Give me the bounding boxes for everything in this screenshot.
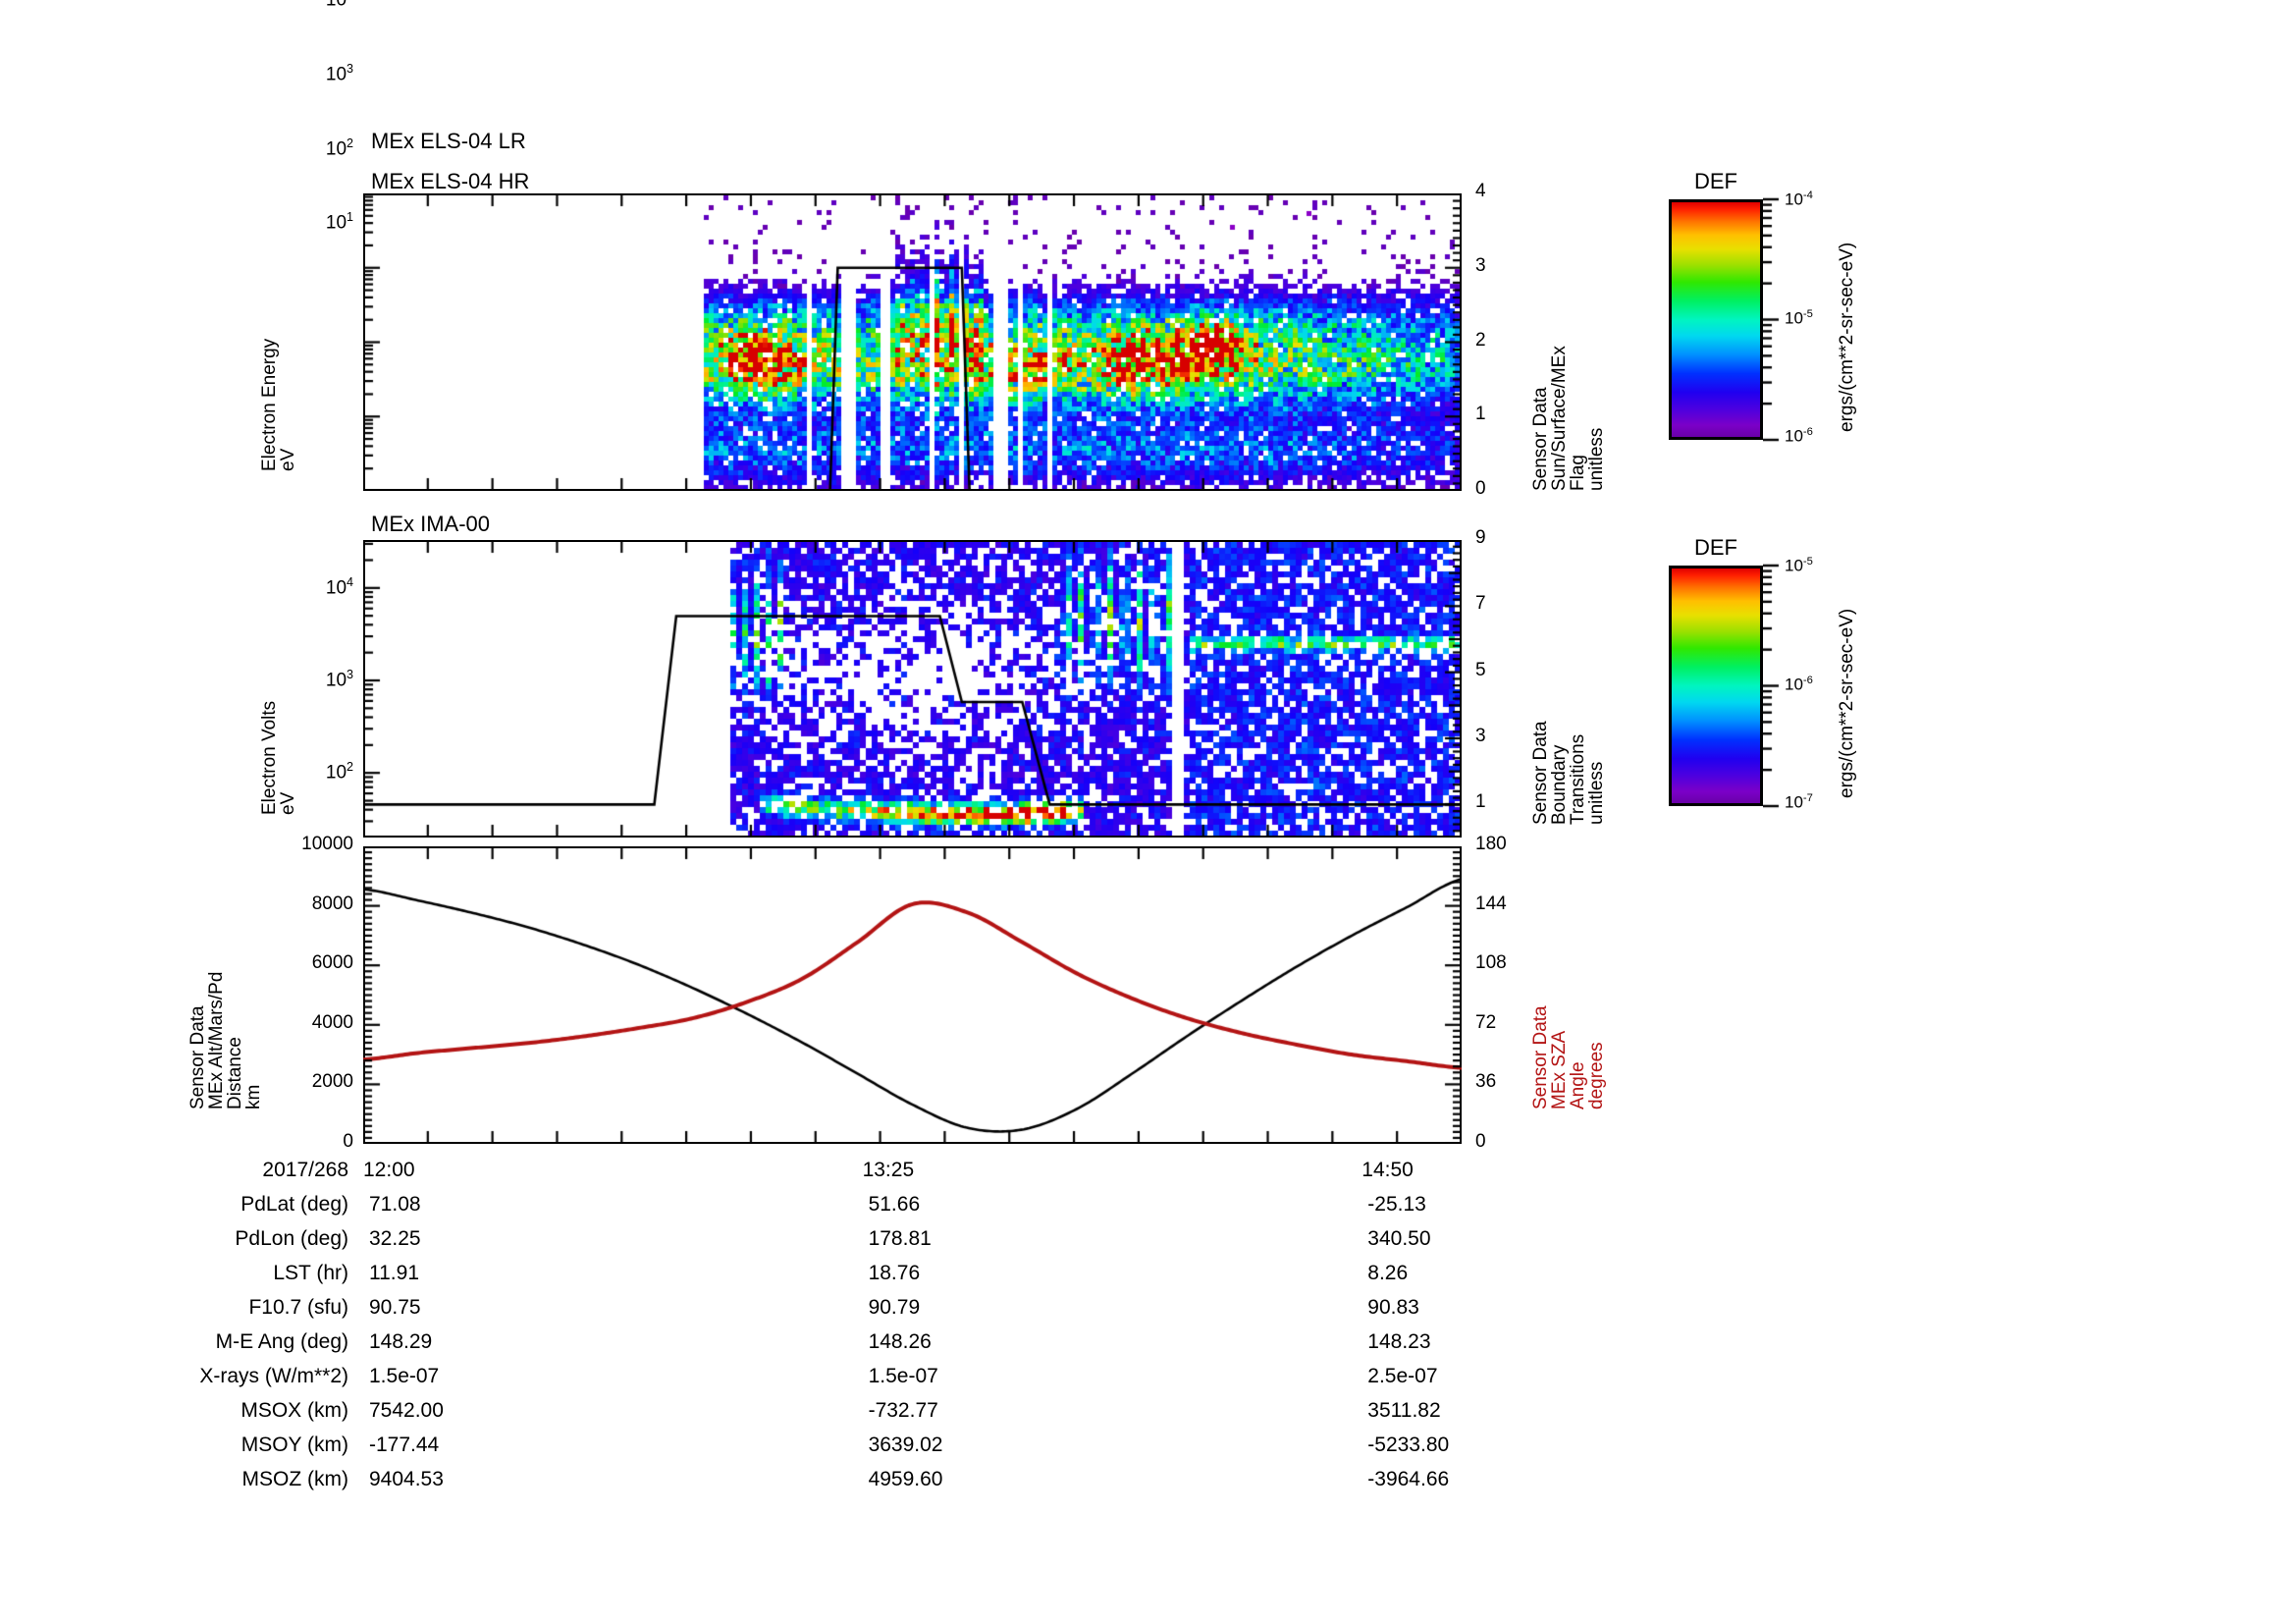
table-cell-8-2: -5233.80 [1367, 1434, 1449, 1457]
p1right-line-0: Sensor Data [1531, 206, 1550, 491]
panel3-y2tick-0: 0 [1475, 1131, 1486, 1153]
panel2-y2tick-1: 3 [1475, 726, 1486, 747]
cb1unit-line-0: ergs/(cm**2-sr-sec-eV) [1838, 592, 1856, 798]
p2right-line-3: unitless [1587, 560, 1606, 825]
table-cell-3-0: 11.91 [369, 1262, 419, 1285]
panel1-ytick-2: 102 [326, 136, 353, 160]
panel1-right-axis-title: Sensor DataSun/Surface/MExFlagunitless [1531, 206, 1606, 491]
p3left-line-3: km [244, 884, 263, 1109]
colorbar-1 [1669, 199, 1763, 440]
table-row-label-4: F10.7 (sfu) [248, 1296, 348, 1320]
table-cell-3-1: 18.76 [869, 1262, 921, 1285]
time-label-0: 12:00 [363, 1159, 415, 1182]
table-cell-6-1: 1.5e-07 [869, 1365, 938, 1388]
panel2-right-axis-title: Sensor DataBoundaryTransitionsunitless [1531, 560, 1606, 825]
table-cell-8-1: 3639.02 [869, 1434, 943, 1457]
table-row-label-9: MSOZ (km) [242, 1468, 348, 1491]
time-label-1: 13:25 [863, 1159, 915, 1182]
p3right-line-0: Sensor Data [1531, 884, 1550, 1109]
panel2-ytick-2: 102 [326, 760, 353, 784]
panel3-right-axis-title: Sensor DataMEx SZAAngledegrees [1531, 884, 1606, 1109]
panel1-y2tick-2: 2 [1475, 330, 1486, 352]
p2right-line-0: Sensor Data [1531, 560, 1550, 825]
panel3-ytick-1: 2000 [312, 1071, 353, 1093]
table-row-label-2: PdLon (deg) [235, 1227, 348, 1251]
panel3-y2tick-4: 144 [1475, 893, 1507, 915]
table-row-label-5: M-E Ang (deg) [216, 1330, 348, 1354]
p2left-line-1: eV [279, 579, 297, 815]
table-cell-2-0: 32.25 [369, 1227, 421, 1251]
table-cell-8-0: -177.44 [369, 1434, 439, 1457]
panel3-ytick-0: 0 [343, 1131, 353, 1153]
panel2-title-line-1: MEx IMA-00 [371, 512, 490, 537]
panel3-x-ticks [363, 846, 1462, 1144]
panel3-y2tick-5: 180 [1475, 834, 1507, 855]
panel3-y2tick-2: 72 [1475, 1012, 1496, 1034]
p3left-line-0: Sensor Data [188, 884, 207, 1109]
panel3-left-axis-title: Sensor DataMEx Alt/Mars/PdDistancekm [188, 884, 263, 1109]
panel2-x-ticks [363, 540, 1462, 838]
p3right-line-2: Angle [1569, 884, 1587, 1109]
table-row-label-6: X-rays (W/m**2) [199, 1365, 348, 1388]
p2right-line-1: Boundary [1550, 560, 1569, 825]
p1left-line-0: Electron Energy [260, 216, 279, 471]
table-cell-5-1: 148.26 [869, 1330, 932, 1354]
table-cell-7-1: -732.77 [869, 1399, 938, 1423]
panel1-y2tick-4: 4 [1475, 181, 1486, 202]
panel3-ytick-2: 4000 [312, 1012, 353, 1034]
panel3-y2tick-3: 108 [1475, 952, 1507, 974]
table-cell-7-2: 3511.82 [1367, 1399, 1440, 1423]
table-cell-1-1: 51.66 [869, 1193, 921, 1217]
colorbar-1-unit-label: ergs/(cm**2-sr-sec-eV) [1838, 226, 1856, 432]
panel2-y2tick-4: 9 [1475, 527, 1486, 549]
panel1-ytick-1: 103 [326, 62, 353, 85]
colorbar-1-bottom-label: 10-6 [1785, 426, 1813, 447]
panel1-left-axis-title: Electron EnergyeV [260, 216, 297, 471]
table-cell-7-0: 7542.00 [369, 1399, 444, 1423]
colorbar-2 [1669, 566, 1763, 806]
colorbar-1-title: DEF [1694, 169, 1737, 194]
panel3-ytick-3: 6000 [312, 952, 353, 974]
colorbar-2-gradient [1672, 568, 1760, 803]
table-row-label-8: MSOY (km) [241, 1434, 348, 1457]
p3right-line-1: MEx SZA [1550, 884, 1569, 1109]
colorbar-2-mid-label: 10-6 [1785, 675, 1813, 695]
panel1-y2tick-3: 3 [1475, 255, 1486, 277]
table-cell-5-0: 148.29 [369, 1330, 432, 1354]
colorbar-1-gradient [1672, 202, 1760, 437]
p2right-line-2: Transitions [1569, 560, 1587, 825]
panel2-y2tick-0: 1 [1475, 791, 1486, 813]
panel1-ytick-3: 101 [326, 210, 353, 234]
colorbar-2-bottom-label: 10-7 [1785, 792, 1813, 813]
colorbar-1-top-label: 10-4 [1785, 189, 1813, 210]
colorbar-2-top-label: 10-5 [1785, 556, 1813, 576]
time-label-2: 14:50 [1362, 1159, 1414, 1182]
p1right-line-2: Flag [1569, 206, 1587, 491]
panel1-y2tick-0: 0 [1475, 478, 1486, 500]
panel2-y2tick-2: 5 [1475, 660, 1486, 681]
p3left-line-2: Distance [226, 884, 244, 1109]
table-cell-5-2: 148.23 [1367, 1330, 1430, 1354]
table-cell-6-0: 1.5e-07 [369, 1365, 439, 1388]
panel2-y2tick-3: 7 [1475, 593, 1486, 615]
panel1-title-line-1: MEx ELS-04 LR [371, 129, 526, 154]
plot-root: MEx ELS-04 LR MEx ELS-04 HR Electron Ene… [0, 0, 2296, 1623]
p3left-line-1: MEx Alt/Mars/Pd [207, 884, 226, 1109]
table-row-label-3: LST (hr) [273, 1262, 348, 1285]
colorbar-1-mid-label: 10-5 [1785, 308, 1813, 329]
p1right-line-3: unitless [1587, 206, 1606, 491]
table-cell-3-2: 8.26 [1367, 1262, 1408, 1285]
panel3-ytick-5: 10000 [301, 834, 353, 855]
panel1-x-ticks [363, 193, 1462, 491]
p3right-line-3: degrees [1587, 884, 1606, 1109]
table-row-label-0: 2017/268 [262, 1159, 348, 1182]
cb0unit-line-0: ergs/(cm**2-sr-sec-eV) [1838, 226, 1856, 432]
table-cell-4-0: 90.75 [369, 1296, 421, 1320]
panel1-y2tick-1: 1 [1475, 404, 1486, 425]
panel2-left-axis-title: Electron VoltseV [260, 579, 297, 815]
table-cell-2-2: 340.50 [1367, 1227, 1430, 1251]
table-cell-6-2: 2.5e-07 [1367, 1365, 1437, 1388]
table-cell-4-2: 90.83 [1367, 1296, 1419, 1320]
p1right-line-1: Sun/Surface/MEx [1550, 206, 1569, 491]
panel3-ytick-4: 8000 [312, 893, 353, 915]
table-cell-9-2: -3964.66 [1367, 1468, 1449, 1491]
colorbar-2-unit-label: ergs/(cm**2-sr-sec-eV) [1838, 592, 1856, 798]
panel1-title-line-2: MEx ELS-04 HR [371, 169, 529, 194]
panel3-y2tick-1: 36 [1475, 1071, 1496, 1093]
table-row-label-7: MSOX (km) [240, 1399, 348, 1423]
table-cell-1-2: -25.13 [1367, 1193, 1426, 1217]
p2left-line-0: Electron Volts [260, 579, 279, 815]
panel2-ytick-0: 104 [326, 575, 353, 599]
table-cell-9-0: 9404.53 [369, 1468, 444, 1491]
table-row-label-1: PdLat (deg) [240, 1193, 348, 1217]
table-cell-9-1: 4959.60 [869, 1468, 943, 1491]
colorbar-2-title: DEF [1694, 535, 1737, 561]
table-cell-1-0: 71.08 [369, 1193, 421, 1217]
panel1-ytick-0: 104 [326, 0, 353, 11]
p1left-line-1: eV [279, 216, 297, 471]
panel2-ytick-1: 103 [326, 668, 353, 691]
table-cell-4-1: 90.79 [869, 1296, 921, 1320]
table-cell-2-1: 178.81 [869, 1227, 932, 1251]
